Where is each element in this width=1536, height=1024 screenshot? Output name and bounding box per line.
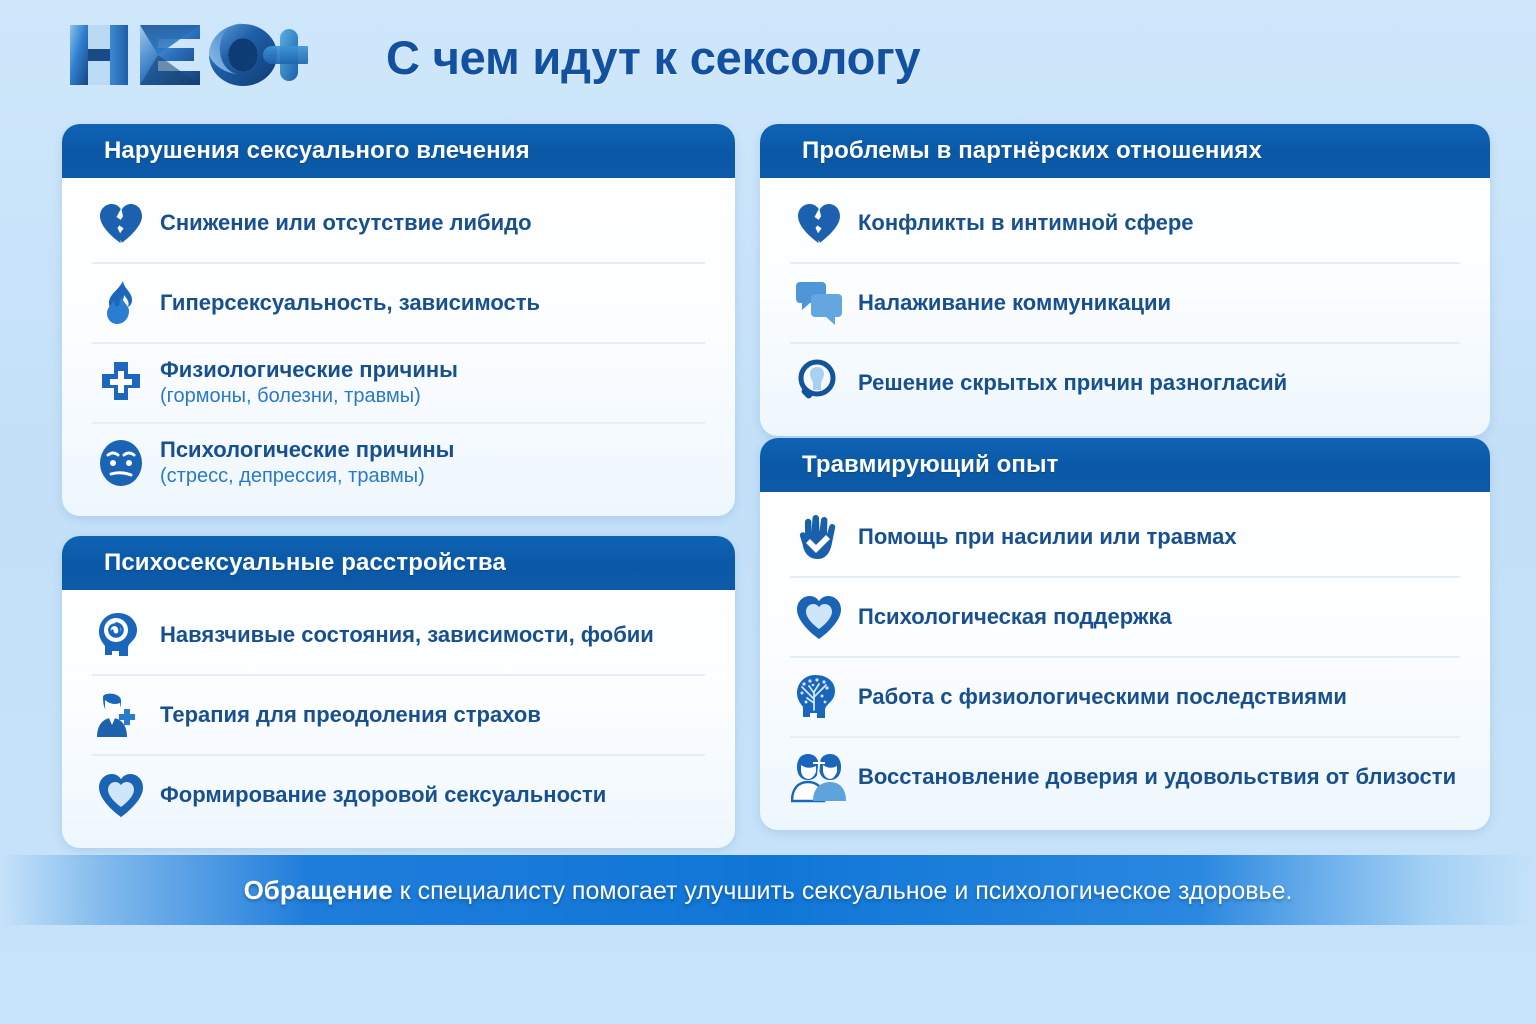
footer-banner: Обращение к специалисту помогает улучшит…	[0, 855, 1536, 925]
header: С чем идут к сексологу	[0, 0, 1536, 112]
card-title-trauma: Травмирующий опыт	[802, 451, 1058, 479]
card-title-relationships: Проблемы в партнёрских отношениях	[802, 137, 1262, 165]
flame-icon	[92, 274, 150, 332]
medical-cross-icon	[92, 354, 150, 412]
list-item[interactable]: Формирование здоровой сексуальности	[92, 756, 705, 834]
neo-plus-logo-icon	[58, 15, 308, 95]
card-header-desire: Нарушения сексуального влечения	[62, 124, 735, 178]
list-item[interactable]: Психологическая поддержка	[790, 578, 1460, 658]
person-plus-icon	[92, 686, 150, 744]
list-item-label: Решение скрытых причин разногласий	[858, 370, 1287, 397]
heart-in-heart-icon	[790, 588, 848, 646]
card-header-psychosexual: Психосексуальные расстройства	[62, 536, 735, 590]
card-body-desire: Снижение или отсутствие либидо Гиперсекс…	[62, 178, 735, 516]
list-item[interactable]: Конфликты в интимной сфере	[790, 184, 1460, 264]
list-item[interactable]: Гиперсексуальность, зависимость	[92, 264, 705, 344]
list-item-label: Физиологические причины	[160, 357, 458, 384]
list-item-label: Терапия для преодоления страхов	[160, 702, 541, 729]
list-item-label: Конфликты в интимной сфере	[858, 210, 1194, 237]
couple-embrace-icon	[790, 748, 848, 806]
broken-heart-icon	[92, 194, 150, 252]
card-header-trauma: Травмирующий опыт	[760, 438, 1490, 492]
list-item-label: Формирование здоровой сексуальности	[160, 782, 606, 809]
card-partner-relationships: Проблемы в партнёрских отношениях Конфли…	[760, 124, 1490, 436]
list-item[interactable]: Физиологические причины (гормоны, болезн…	[92, 344, 705, 424]
heart-in-heart-icon	[92, 766, 150, 824]
card-body-psychosexual: Навязчивые состояния, зависимости, фобии…	[62, 590, 735, 848]
card-body-trauma: Помощь при насилии или травмах Психологи…	[760, 492, 1490, 830]
broken-heart-icon	[790, 194, 848, 252]
card-traumatic-experience: Травмирующий опыт Помощь при насилии или…	[760, 438, 1490, 830]
list-item-label: Снижение или отсутствие либидо	[160, 210, 532, 237]
page-title: С чем идут к сексологу	[386, 22, 1076, 94]
list-item-label: Навязчивые состояния, зависимости, фобии	[160, 622, 654, 649]
list-item-label: Работа с физиологическими последствиями	[858, 684, 1347, 711]
list-item-label: Психологическая поддержка	[858, 604, 1172, 631]
card-body-relationships: Конфликты в интимной сфере Налаживание к…	[760, 178, 1490, 436]
list-item[interactable]: Помощь при насилии или травмах	[790, 498, 1460, 578]
list-item[interactable]: Решение скрытых причин разногласий	[790, 344, 1460, 422]
footer-message-rest: к специалисту помогает улучшить сексуаль…	[393, 877, 1293, 905]
card-title-desire: Нарушения сексуального влечения	[104, 137, 530, 165]
list-item-label: Налаживание коммуникации	[858, 290, 1171, 317]
list-item-label: Психологические причины	[160, 437, 454, 464]
list-item-label: Гиперсексуальность, зависимость	[160, 290, 540, 317]
brand-logo	[58, 14, 318, 96]
list-item[interactable]: Психологические причины (стресс, депресс…	[92, 424, 705, 502]
footer-message: Обращение к специалисту помогает улучшит…	[244, 875, 1293, 906]
card-desire-disorders: Нарушения сексуального влечения Снижение…	[62, 124, 735, 516]
card-header-relationships: Проблемы в партнёрских отношениях	[760, 124, 1490, 178]
list-item[interactable]: Работа с физиологическими последствиями	[790, 658, 1460, 738]
magnifier-icon	[790, 354, 848, 412]
list-item-sublabel: (гормоны, болезни, травмы)	[160, 384, 458, 409]
list-item[interactable]: Терапия для преодоления страхов	[92, 676, 705, 756]
list-item[interactable]: Навязчивые состояния, зависимости, фобии	[92, 596, 705, 676]
list-item[interactable]: Снижение или отсутствие либидо	[92, 184, 705, 264]
list-item-sublabel: (стресс, депрессия, травмы)	[160, 464, 454, 489]
hand-stop-icon	[790, 508, 848, 566]
footer-message-lead: Обращение	[244, 875, 393, 905]
list-item[interactable]: Восстановление доверия и удовольствия от…	[790, 738, 1460, 816]
card-psychosexual-disorders: Психосексуальные расстройства Навязчивые…	[62, 536, 735, 848]
list-item[interactable]: Налаживание коммуникации	[790, 264, 1460, 344]
list-item-label: Восстановление доверия и удовольствия от…	[858, 764, 1456, 791]
card-title-psychosexual: Психосексуальные расстройства	[104, 549, 506, 577]
head-spiral-icon	[92, 606, 150, 664]
speech-bubbles-icon	[790, 274, 848, 332]
sad-face-icon	[92, 434, 150, 492]
head-tree-icon	[790, 668, 848, 726]
list-item-label: Помощь при насилии или травмах	[858, 524, 1237, 551]
